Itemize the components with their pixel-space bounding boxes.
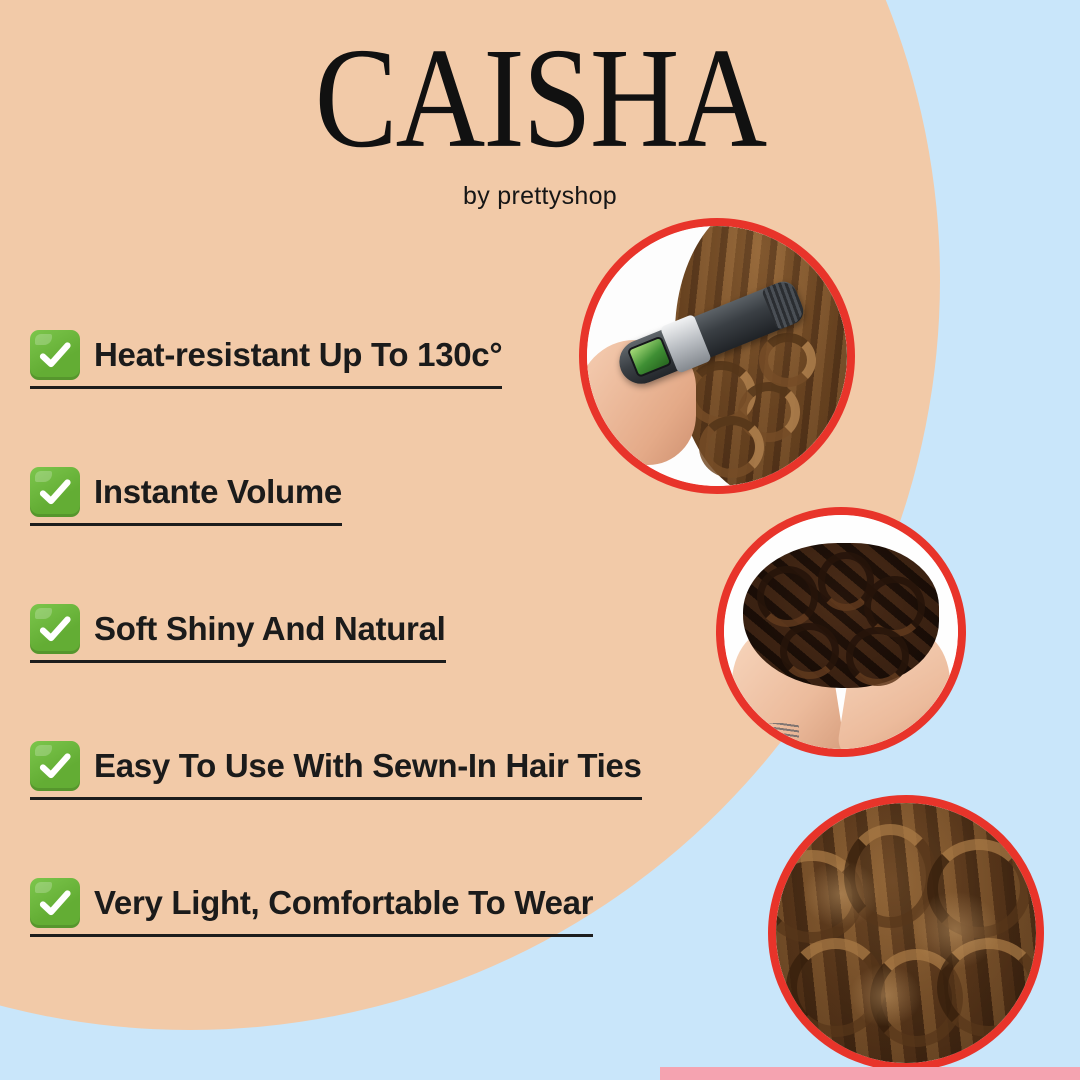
green-check-icon	[30, 467, 80, 517]
photo2-wrist-tattoo	[759, 723, 799, 742]
feature-label: Instante Volume	[94, 473, 342, 511]
green-check-icon	[30, 330, 80, 380]
feature-label: Easy To Use With Sewn-In Hair Ties	[94, 747, 642, 785]
feature-item-easy-to-use: Easy To Use With Sewn-In Hair Ties	[30, 741, 642, 800]
photo2-curl	[846, 627, 909, 686]
photo2-curl	[780, 623, 839, 679]
product-feature-poster: CAISHA by prettyshop Heat-resistant Up T…	[0, 0, 1080, 1080]
brand-wordmark: CAISHA	[16, 26, 1064, 169]
brand-tagline: by prettyshop	[0, 182, 1080, 211]
photo-curls-closeup-image	[776, 803, 1036, 1063]
photo2-curl	[757, 566, 818, 627]
feature-item-soft-shiny-natural: Soft Shiny And Natural	[30, 604, 446, 663]
green-check-icon	[30, 604, 80, 654]
photo-hands-hairpiece-image	[724, 515, 958, 749]
feature-list: Heat-resistant Up To 130c° Instante Volu…	[30, 330, 690, 937]
bottom-accent-bar	[660, 1067, 1080, 1080]
feature-label: Heat-resistant Up To 130c°	[94, 336, 502, 374]
feature-item-very-light: Very Light, Comfortable To Wear	[30, 878, 593, 937]
photo-hands-hairpiece	[716, 507, 966, 757]
photo1-curl	[759, 333, 816, 388]
feature-label: Very Light, Comfortable To Wear	[94, 884, 593, 922]
photo-curls-closeup	[768, 795, 1044, 1071]
photo1-curl	[699, 416, 764, 478]
feature-label: Soft Shiny And Natural	[94, 610, 446, 648]
feature-item-heat-resistant: Heat-resistant Up To 130c°	[30, 330, 502, 389]
brand-logo: CAISHA by prettyshop	[0, 26, 1080, 211]
photo3-highlight	[849, 964, 922, 1026]
photo3-highlight	[911, 891, 999, 969]
feature-item-instant-volume: Instante Volume	[30, 467, 342, 526]
photo3-highlight	[802, 860, 880, 928]
green-check-icon	[30, 878, 80, 928]
green-check-icon	[30, 741, 80, 791]
